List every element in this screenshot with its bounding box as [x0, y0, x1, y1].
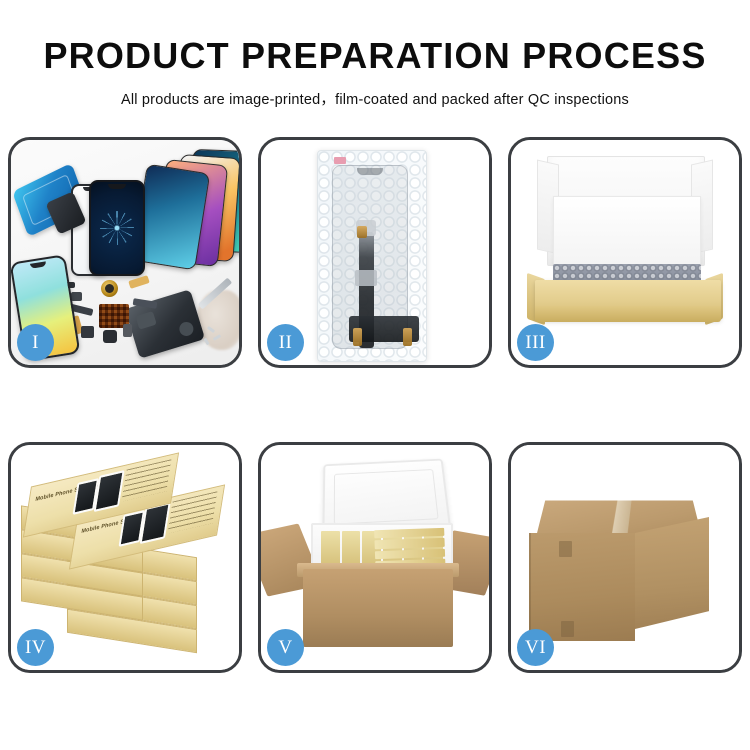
page-subtitle: All products are image-printed，film-coat…	[0, 74, 750, 109]
header: PRODUCT PREPARATION PROCESS All products…	[0, 0, 750, 109]
step-panel-3: III	[508, 137, 742, 368]
step-badge-2: II	[267, 324, 304, 361]
step-6-image: VI	[511, 445, 739, 670]
step-1-image: I	[11, 140, 239, 365]
gold-contact-tab	[403, 328, 412, 346]
gold-connector-part	[128, 275, 149, 289]
step-badge-1: I	[17, 324, 54, 361]
box-spec-text-block	[122, 459, 172, 501]
yellow-box	[375, 538, 445, 549]
carton-tab-mark	[559, 541, 572, 557]
camera-module-part	[81, 326, 94, 338]
box-tray-front	[535, 306, 721, 322]
white-foam-sheet	[553, 196, 701, 266]
speaker-coil-part	[101, 280, 118, 297]
box-spec-text-block	[168, 491, 218, 533]
carton-body	[303, 569, 453, 647]
wrapped-screen-assembly	[332, 165, 408, 349]
carton-front-face	[529, 533, 635, 641]
gold-contact-tab	[357, 226, 367, 238]
battery-connector-part	[123, 324, 132, 337]
step-5-image: V	[261, 445, 489, 670]
driver-ic-pad	[355, 270, 377, 286]
step-panel-6: VI	[508, 442, 742, 673]
step-panel-1: I	[8, 137, 242, 368]
qc-sticker	[334, 157, 346, 164]
bubble-wrap-bag	[317, 150, 427, 362]
step-badge-5: V	[267, 629, 304, 666]
step-panel-2: II	[258, 137, 492, 368]
step-panel-4: Mobile Phone Spare Parts Mobile Phone Sp…	[8, 442, 242, 673]
bracket-part	[71, 292, 82, 301]
step-2-image: II	[261, 140, 489, 365]
yellow-box	[375, 549, 445, 560]
phone-display-front	[89, 180, 145, 276]
step-panel-5: V	[258, 442, 492, 673]
carton-tab-mark	[561, 621, 574, 637]
carton-seam	[529, 533, 531, 641]
carton-side-face	[635, 517, 709, 629]
steps-grid: I	[8, 137, 742, 685]
product-preparation-infographic: PRODUCT PREPARATION PROCESS All products…	[0, 0, 750, 750]
step-badge-6: VI	[517, 629, 554, 666]
gold-contact-tab	[353, 328, 362, 346]
box-artwork-screen	[94, 470, 125, 512]
step-badge-4: IV	[17, 629, 54, 666]
step-3-image: III	[511, 140, 739, 365]
box-stack: Mobile Phone Spare Parts Mobile Phone Sp…	[15, 463, 239, 663]
yellow-box	[374, 528, 444, 539]
step-4-image: Mobile Phone Spare Parts Mobile Phone Sp…	[11, 445, 239, 670]
vibrator-part	[103, 330, 117, 343]
page-title: PRODUCT PREPARATION PROCESS	[0, 0, 750, 74]
step-badge-3: III	[517, 324, 554, 361]
